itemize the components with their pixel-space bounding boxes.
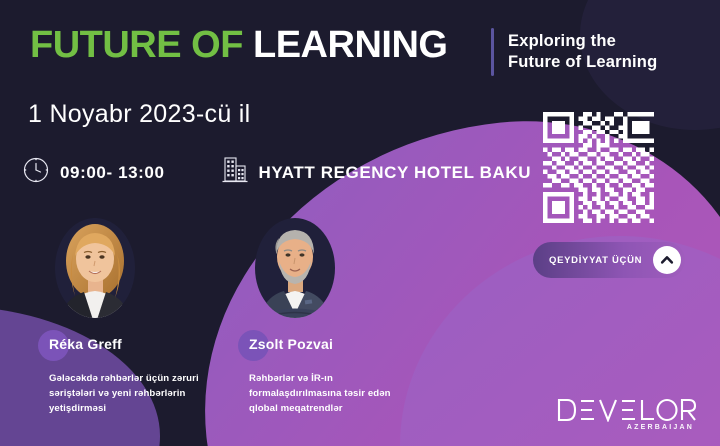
- event-meta-row: 09:00- 13:00: [22, 155, 531, 190]
- building-icon: [221, 155, 249, 190]
- speaker-photo-woman: [48, 214, 142, 324]
- speaker-name-row: Réka Greff: [18, 330, 218, 362]
- speaker-card: Réka Greff Gələcəkdə rəhbərlər üçün zəru…: [18, 214, 218, 417]
- speaker-name: Zsolt Pozvai: [249, 336, 333, 352]
- title-divider: [491, 28, 494, 76]
- event-venue: HYATT REGENCY HOTEL BAKU: [259, 163, 532, 183]
- qr-code[interactable]: [543, 112, 654, 223]
- subtitle-line-1: Exploring the: [508, 31, 657, 52]
- subtitle: Exploring the Future of Learning: [508, 31, 657, 73]
- logo-wordmark: [556, 398, 696, 422]
- logo-country: AZERBAIJAN: [556, 424, 694, 431]
- registration-button-label: QEYDİYYAT ÜÇÜN: [549, 255, 653, 266]
- speaker-photo-man: [248, 214, 342, 324]
- event-date: 1 Noyabr 2023-cü il: [28, 100, 251, 129]
- event-time: 09:00- 13:00: [60, 163, 165, 183]
- develor-logo: AZERBAIJAN: [556, 398, 696, 431]
- clock-icon: [22, 156, 50, 189]
- registration-button[interactable]: QEYDİYYAT ÜÇÜN: [533, 242, 685, 278]
- speaker-topic: Rəhbərlər və İR-ın formalaşdırılmasına t…: [249, 372, 419, 417]
- speaker-topic: Gələcəkdə rəhbərlər üçün zəruri səriştəl…: [49, 372, 219, 417]
- title-white-part: LEARNING: [253, 24, 447, 66]
- subtitle-line-2: Future of Learning: [508, 52, 657, 73]
- speaker-name-row: Zsolt Pozvai: [218, 330, 418, 362]
- speaker-name: Réka Greff: [49, 336, 122, 352]
- title-green-part: FUTURE OF: [30, 24, 243, 66]
- speaker-card: Zsolt Pozvai Rəhbərlər və İR-ın formalaş…: [218, 214, 418, 417]
- chevron-up-icon[interactable]: [653, 246, 681, 274]
- page-title: FUTURE OF LEARNING: [30, 26, 447, 64]
- event-poster: FUTURE OF LEARNING Exploring the Future …: [0, 0, 720, 446]
